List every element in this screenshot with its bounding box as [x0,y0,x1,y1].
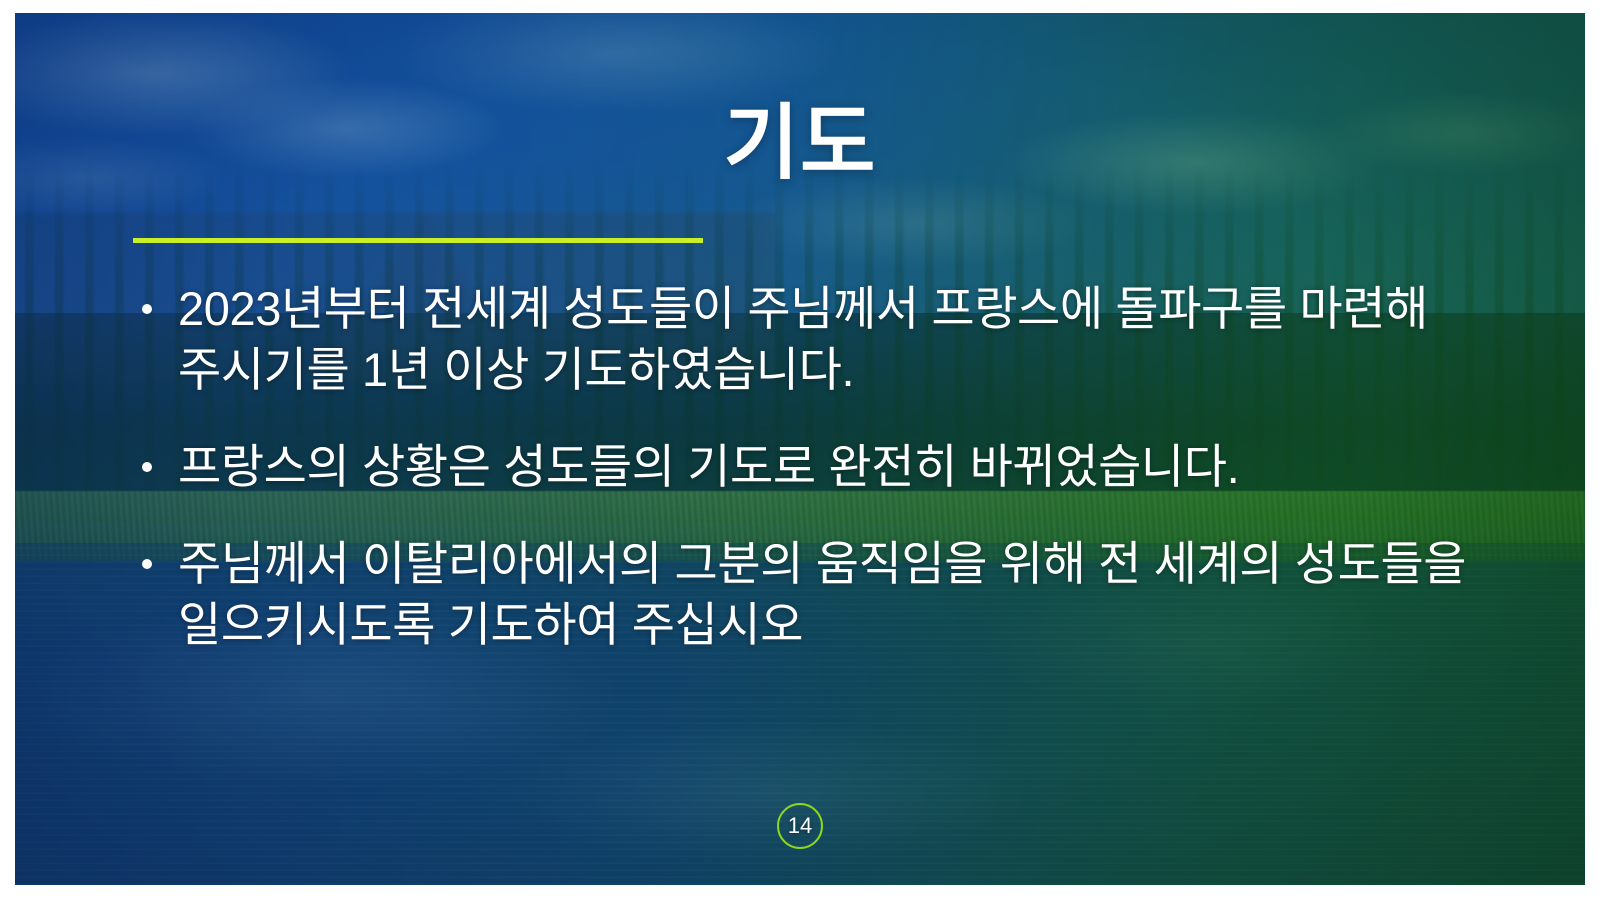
bullet-list: 2023년부터 전세계 성도들이 주님께서 프랑스에 돌파구를 마련해 주시기를… [133,278,1473,691]
title-accent-rule [133,238,703,243]
list-item: 2023년부터 전세계 성도들이 주님께서 프랑스에 돌파구를 마련해 주시기를… [133,278,1473,400]
list-item-text: 주님께서 이탈리아에서의 그분의 움직임을 위해 전 세계의 성도들을 일으키시… [178,537,1466,651]
slide-content: 기도 2023년부터 전세계 성도들이 주님께서 프랑스에 돌파구를 마련해 주… [15,13,1585,885]
page-number-badge: 14 [777,803,823,849]
bullet-dot-icon [142,462,152,472]
list-item-text: 2023년부터 전세계 성도들이 주님께서 프랑스에 돌파구를 마련해 주시기를… [178,282,1428,396]
bullet-dot-icon [142,304,152,314]
slide-title: 기도 [15,101,1585,187]
list-item: 주님께서 이탈리아에서의 그분의 움직임을 위해 전 세계의 성도들을 일으키시… [133,533,1473,655]
list-item-text: 프랑스의 상황은 성도들의 기도로 완전히 바뀌었습니다. [178,440,1239,493]
list-item: 프랑스의 상황은 성도들의 기도로 완전히 바뀌었습니다. [133,436,1473,497]
bullet-dot-icon [142,559,152,569]
slide: 기도 2023년부터 전세계 성도들이 주님께서 프랑스에 돌파구를 마련해 주… [15,13,1585,885]
